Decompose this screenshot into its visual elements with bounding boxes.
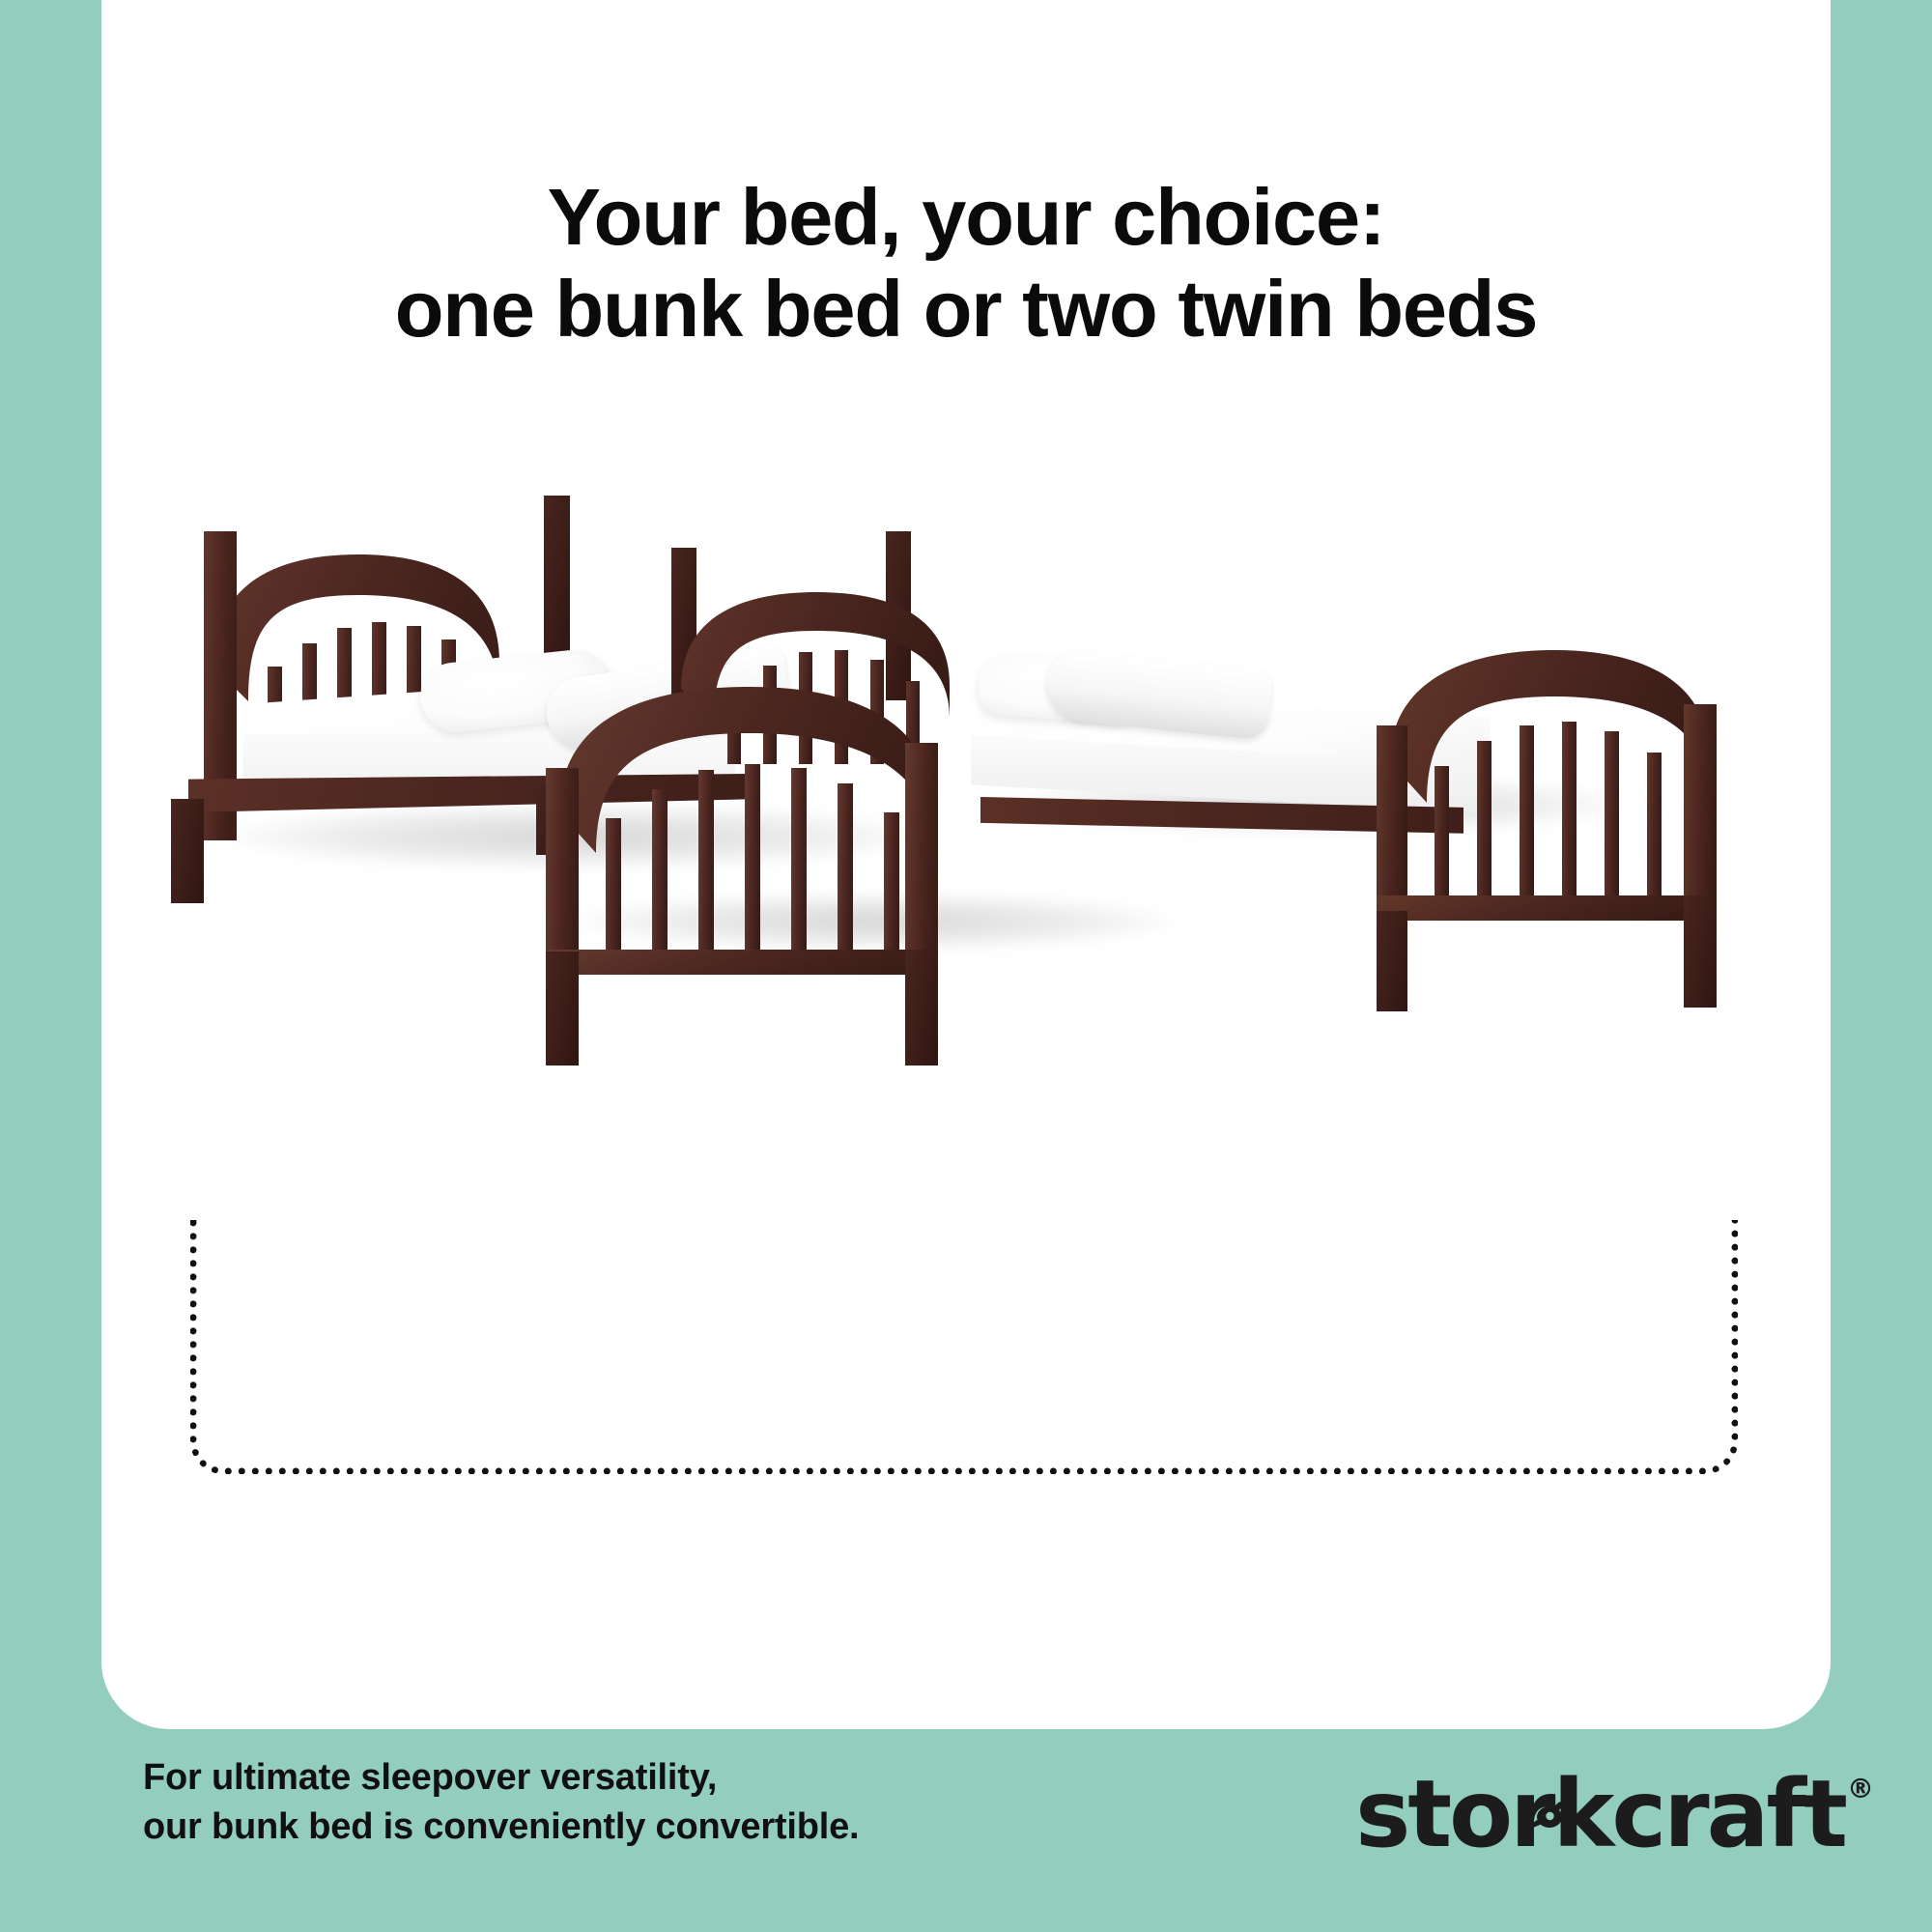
- right-twin-bed: [971, 565, 1705, 980]
- promo-image: Your bed, your choice: one bunk bed or t…: [0, 0, 1932, 1932]
- storkcraft-logo: storkcraft ®: [1355, 1768, 1874, 1861]
- right-bed-near-leg: [1377, 911, 1407, 1011]
- left-bed-far-post: [544, 496, 570, 669]
- logo-wordmark-text: storkcraft: [1355, 1760, 1845, 1868]
- dotted-callout-box: [190, 1220, 1738, 1474]
- page-title: Your bed, your choice: one bunk bed or t…: [101, 172, 1831, 355]
- left-bed-front-leg: [171, 799, 204, 903]
- center-front-left-leg: [546, 952, 579, 1065]
- tagline-line-2: our bunk bed is conveniently convertible…: [143, 1803, 859, 1852]
- logo-wordmark: storkcraft: [1355, 1768, 1845, 1861]
- right-bed-headboard: [1377, 629, 1724, 957]
- center-lower-footboard: [546, 668, 952, 1025]
- headline-line-2: one bunk bed or two twin beds: [101, 264, 1831, 355]
- content-card: Your bed, your choice: one bunk bed or t…: [101, 0, 1831, 1729]
- footer-tagline: For ultimate sleepover versatility, our …: [143, 1753, 859, 1851]
- product-photo: [159, 555, 1782, 1174]
- center-front-right-leg: [905, 950, 938, 1065]
- right-bed-far-leg: [1684, 895, 1717, 1008]
- registered-trademark-icon: ®: [1847, 1776, 1874, 1803]
- tagline-line-1: For ultimate sleepover versatility,: [143, 1753, 859, 1803]
- headline-line-1: Your bed, your choice:: [101, 172, 1831, 264]
